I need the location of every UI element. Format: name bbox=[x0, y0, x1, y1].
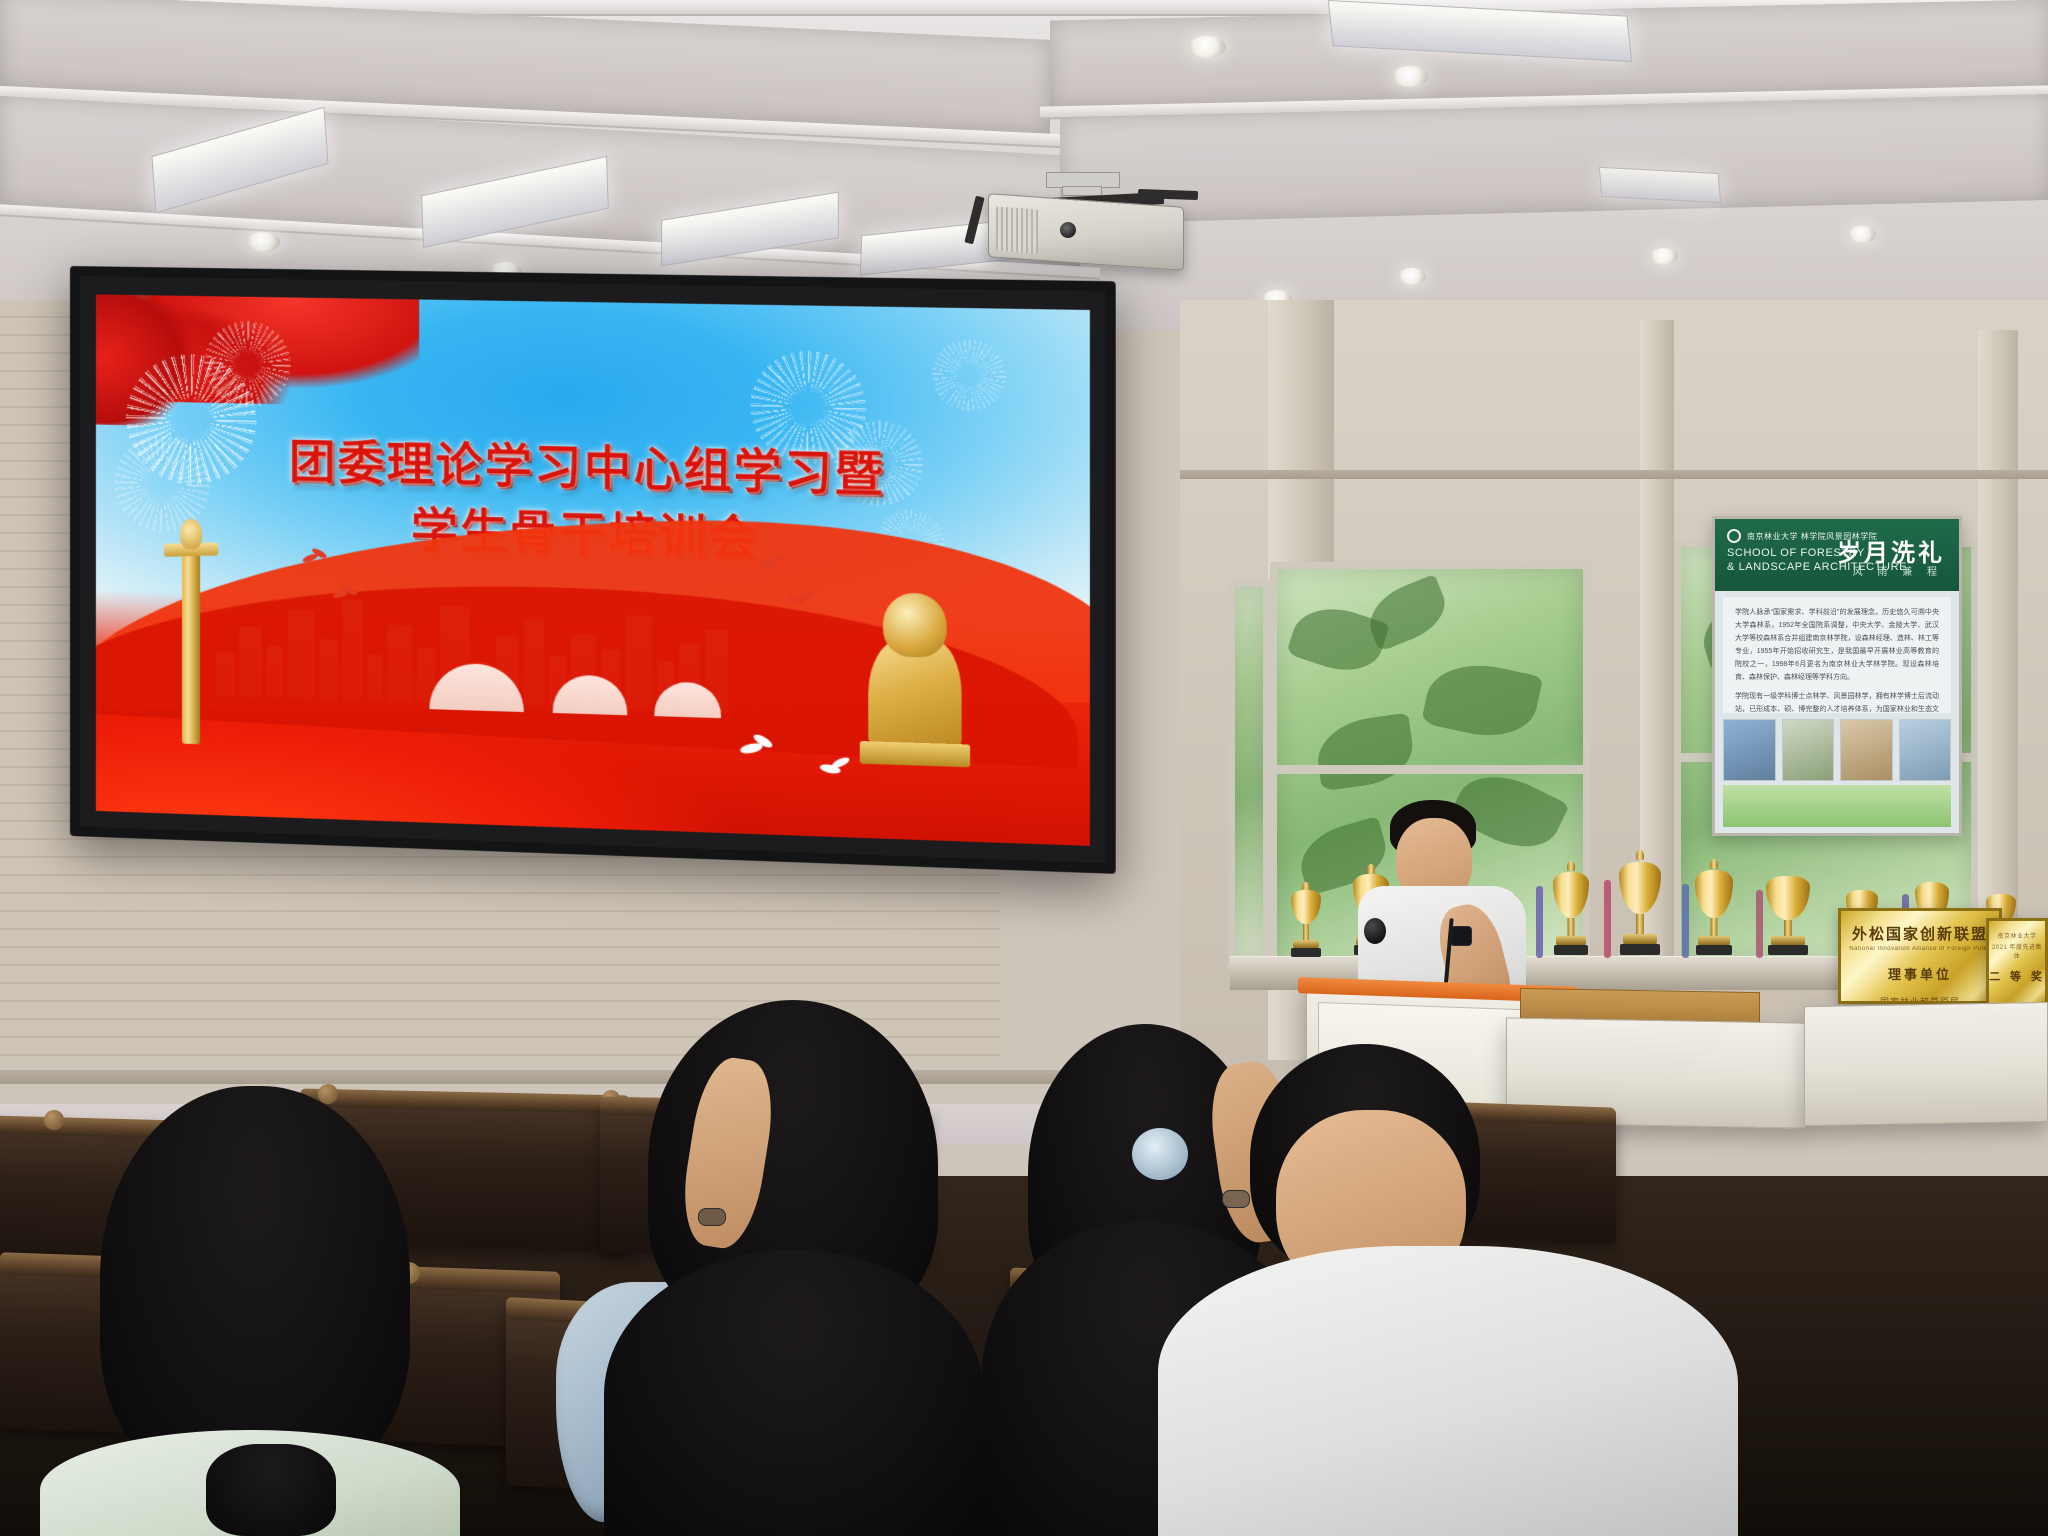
projector-mount-plate bbox=[1062, 186, 1102, 196]
slide-canvas: 团委理论学习中心组学习暨 学生骨干培训会 2025.7.4 bbox=[96, 294, 1090, 846]
ceiling-downlight bbox=[1650, 248, 1678, 265]
trophy bbox=[1762, 872, 1814, 958]
poster-header: 南京林业大学 林学院风景园林学院 SCHOOL OF FORESTRY & LA… bbox=[1715, 519, 1959, 591]
pew-knob bbox=[44, 1110, 64, 1130]
poster-paragraph-1: 学院人脉承“国家需求、学科前沿”的发展理念，历史悠久可溯中央大学森林系，1952… bbox=[1735, 607, 1939, 685]
attendee-center-body bbox=[604, 1250, 984, 1536]
ceiling-downlight bbox=[246, 232, 280, 252]
award-plaque-secondary: 南京林业大学 2021 年度先进集体 二 等 奖 bbox=[1986, 918, 2048, 1006]
attendee-right-shirt bbox=[1158, 1246, 1738, 1536]
wall-trim bbox=[0, 1070, 1180, 1084]
poster-photo-strip bbox=[1723, 719, 1951, 781]
microphone-icon bbox=[1364, 918, 1386, 944]
attendee-center-right-bracelet bbox=[1222, 1190, 1250, 1208]
poster-footer-band bbox=[1723, 785, 1951, 827]
firework-icon bbox=[932, 338, 1007, 412]
ceiling-downlight bbox=[1392, 66, 1428, 87]
stone-lion-icon bbox=[860, 590, 970, 753]
projector-lens bbox=[1060, 222, 1076, 238]
poster-headline-sub: 风 雨 兼 程 bbox=[1853, 563, 1943, 578]
firework-icon bbox=[204, 320, 291, 408]
plaque2-mark-cn: 二 等 奖 bbox=[1989, 968, 2045, 984]
ceiling-downlight bbox=[1848, 226, 1876, 243]
trophy bbox=[1614, 856, 1666, 958]
pew-knob bbox=[318, 1084, 338, 1104]
plaque-title-en: National Innovation Alliance of Foreign … bbox=[1841, 946, 1999, 952]
projector-vent bbox=[996, 207, 1038, 254]
department-info-poster: 南京林业大学 林学院风景园林学院 SCHOOL OF FORESTRY & LA… bbox=[1712, 516, 1962, 836]
trophy-ribbon bbox=[1756, 890, 1763, 958]
attendee-center-bracelet bbox=[698, 1208, 726, 1226]
university-logo-icon bbox=[1727, 529, 1741, 543]
podium-right-cabinet bbox=[1804, 1002, 2048, 1126]
wall-trim bbox=[1180, 470, 2048, 479]
poster-paragraph-2: 学院现有一级学科博士点林学、风景园林学，拥有林学博士后流动站，已形成本、硕、博完… bbox=[1735, 691, 1939, 713]
trophy bbox=[1286, 884, 1326, 958]
poster-photo bbox=[1782, 719, 1835, 781]
plaque-title-cn: 外松国家创新联盟 bbox=[1841, 923, 1999, 944]
attendee-front-left-ponytail bbox=[206, 1444, 336, 1536]
plaque2-title-cn: 南京林业大学 bbox=[1989, 931, 2045, 940]
ceiling-troffer bbox=[1599, 167, 1721, 203]
trophy bbox=[1690, 864, 1738, 958]
award-plaque-primary: 外松国家创新联盟 National Innovation Alliance of… bbox=[1838, 908, 2002, 1004]
ceiling-downlight bbox=[1398, 268, 1426, 285]
plaque-role-cn: 理事单位 bbox=[1841, 964, 1999, 983]
trophy-ribbon bbox=[1682, 884, 1689, 958]
poster-body-text: 学院人脉承“国家需求、学科前沿”的发展理念，历史悠久可溯中央大学森林系，1952… bbox=[1723, 597, 1951, 713]
huabiao-column-icon bbox=[168, 512, 214, 744]
window-far-left-sliver bbox=[1228, 580, 1270, 970]
speaker-wristwatch bbox=[1450, 926, 1472, 946]
plaque2-subtitle-cn: 2021 年度先进集体 bbox=[1989, 942, 2045, 960]
poster-photo bbox=[1840, 719, 1893, 781]
hair-scrunchie bbox=[1132, 1128, 1188, 1180]
trophy-ribbon bbox=[1604, 880, 1611, 958]
ceiling-downlight bbox=[1188, 36, 1226, 58]
poster-photo bbox=[1723, 719, 1776, 781]
led-display-screen[interactable]: 团委理论学习中心组学习暨 学生骨干培训会 2025.7.4 bbox=[70, 266, 1116, 874]
poster-photo bbox=[1899, 719, 1952, 781]
attendee-front-left-hair bbox=[100, 1086, 410, 1486]
conference-room-photo: 团委理论学习中心组学习暨 学生骨干培训会 2025.7.4 bbox=[0, 0, 2048, 1536]
